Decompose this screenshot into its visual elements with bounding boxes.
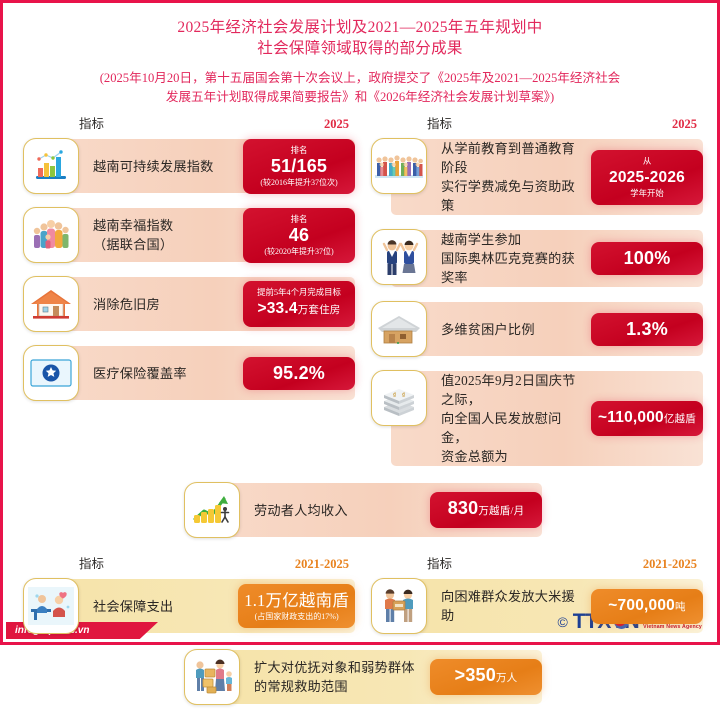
badge-unit: 万套住房 [298,305,341,316]
bar-chart-icon [23,138,79,194]
family-group-icon [23,207,79,263]
section1-right-header: 指标 2025 [365,113,703,135]
row-label-line1: 向困难群众发放大米援助 [441,587,585,625]
badge-value: 51/165 [249,156,349,177]
column-header-year: 2021-2025 [643,557,697,572]
subtitle: (2025年10月20日，第十五届国会第十次会议上，政府提交了《2025年及20… [43,69,677,107]
row-value-badge: 95.2% [243,357,355,390]
badge-value: ~110,000亿越盾 [597,407,697,430]
badge-value: 46 [249,225,349,246]
aid-family-icon [184,649,240,705]
badge-value-number: ~700,000 [608,597,675,614]
row-label-line2: 向全国人民发放慰问金， [441,409,585,447]
health-insurance-card-icon [23,345,79,401]
students-crowd-icon [371,138,427,194]
badge-value-number: >33.4 [257,300,297,317]
section1-center-row-wrap: 劳动者人均收入 830万越盾/月 [17,477,703,545]
table-row[interactable]: 多维贫困户比例 1.3% [365,298,703,360]
row-label-line2: 实行学费减免与资助政策 [441,177,585,215]
row-value-badge: ~700,000吨 [591,589,703,624]
row-value-badge: 830万越盾/月 [430,492,542,528]
poor-house-icon [371,301,427,357]
row-value-badge: ~110,000亿越盾 [591,401,703,436]
row-label-line1: 越南幸福指数 [93,216,237,235]
badge-value: 1.3% [597,319,697,340]
badge-value: 1.1万亿越南盾 [244,590,349,611]
row-label-line2: 国际奥林匹克竞赛的获奖率 [441,249,585,287]
row-label: 消除危旧房 [79,273,243,335]
row-label-line1: 从学前教育到普通教育阶段 [441,139,585,177]
badge-value: 830万越盾/月 [436,498,536,522]
infographic-frame: 2025年经济社会发展计划及2021—2025年五年规划中 社会保障领域取得的部… [0,0,720,645]
table-row[interactable]: 劳动者人均收入 830万越盾/月 [178,479,542,541]
badge-value-number: >350 [455,665,496,685]
badge-prefix: 提前5年4个月完成目标 [249,287,349,298]
badge-prefix: 排名 [249,214,349,225]
table-row[interactable]: 社会保障支出 1.1万亿越南盾 (占国家财政支出的17%) [17,575,355,637]
row-label-line1: 消除危旧房 [93,295,237,314]
badge-note: (较2016年提升37位次) [249,177,349,188]
column-header-year: 2021-2025 [295,557,349,572]
row-label-line1: 越南学生参加 [441,230,585,249]
row-label: 越南可持续发展指数 [79,135,243,197]
column-header-year: 2025 [672,117,697,132]
subtitle-line1: (2025年10月20日，第十五届国会第十次会议上，政府提交了《2025年及20… [65,69,655,88]
section2-left-header: 指标 2021-2025 [17,553,355,575]
section2-center-row-wrap: 扩大对优抚对象和弱势群体 的常规救助范围 >350万人 [17,644,703,712]
badge-unit: 万越盾/月 [478,506,524,517]
header: 2025年经济社会发展计划及2021—2025年五年规划中 社会保障领域取得的部… [3,3,717,113]
income-growth-icon [184,482,240,538]
column-header-indicator: 指标 [427,113,672,132]
table-row[interactable]: 越南幸福指数 （据联合国） 排名 46 (较2020年提升37位) [17,204,355,266]
badge-note: (占国家财政支出的17%) [244,611,349,622]
badge-value: >33.4万套住房 [249,298,349,321]
badge-value: 95.2% [249,363,349,384]
badge-value: >350万人 [436,665,536,689]
row-label: 越南幸福指数 （据联合国） [79,204,243,266]
row-label: 值2025年9月2日国庆节之际， 向全国人民发放慰问金， 资金总额为 [427,367,591,470]
row-label-line1: 劳动者人均收入 [254,501,424,520]
row-label-line1: 扩大对优抚对象和弱势群体 [254,658,424,677]
row-label-line1: 越南可持续发展指数 [93,157,237,176]
section2-right-header: 指标 2021-2025 [365,553,703,575]
row-value-badge: 排名 46 (较2020年提升37位) [243,208,355,263]
row-value-badge: 从 2025-2026 学年开始 [591,150,703,205]
badge-prefix: 排名 [249,145,349,156]
svg-text:₫: ₫ [393,393,396,399]
badge-value: 2025-2026 [597,167,697,188]
social-care-icon [23,578,79,634]
section1-left-header: 指标 2025 [17,113,355,135]
row-label: 医疗保险覆盖率 [79,342,243,404]
rice-aid-icon [371,578,427,634]
row-label-line2: （据联合国） [93,235,237,254]
house-icon [23,276,79,332]
row-value-badge: 提前5年4个月完成目标 >33.4万套住房 [243,281,355,327]
row-label: 多维贫困户比例 [427,298,591,360]
badge-value-number: 830 [448,498,479,518]
table-row[interactable]: 从学前教育到普通教育阶段 实行学费减免与资助政策 从 2025-2026 学年开… [365,135,703,219]
badge-value: 100% [597,248,697,269]
badge-unit: 吨 [675,602,686,613]
row-label: 向困难群众发放大米援助 [427,575,591,637]
row-label-line3: 资金总额为 [441,447,585,466]
row-label: 劳动者人均收入 [240,479,430,541]
badge-value-number: ~110,000 [598,409,664,426]
row-label-line1: 医疗保险覆盖率 [93,364,237,383]
badge-note: (较2020年提升37位) [249,246,349,257]
page-title-line2: 社会保障领域取得的部分成果 [43,38,677,59]
column-header-year: 2025 [324,117,349,132]
row-label-line1: 值2025年9月2日国庆节之际， [441,371,585,409]
table-row[interactable]: ₫ ₫ 值2025年9月2日国庆节之际， 向全国人民发放慰问金， 资金总额为 ~… [365,367,703,470]
row-value-badge: 1.1万亿越南盾 (占国家财政支出的17%) [238,584,355,628]
table-row[interactable]: 扩大对优抚对象和弱势群体 的常规救助范围 >350万人 [178,646,542,708]
row-label-line1: 社会保障支出 [93,597,232,616]
row-value-badge: 1.3% [591,313,703,346]
badge-unit: 万人 [496,673,517,684]
money-stack-icon: ₫ ₫ [371,370,427,426]
page-title-line1: 2025年经济社会发展计划及2021—2025年五年规划中 [43,17,677,38]
column-header-indicator: 指标 [79,553,295,572]
badge-value: ~700,000吨 [597,595,697,618]
table-row[interactable]: 医疗保险覆盖率 95.2% [17,342,355,404]
badge-prefix: 从 [597,156,697,167]
row-value-badge: 排名 51/165 (较2016年提升37位次) [243,139,355,194]
row-label: 扩大对优抚对象和弱势群体 的常规救助范围 [240,646,430,708]
section1-left-column: 指标 2025 [17,113,355,477]
svg-text:₫: ₫ [402,393,405,399]
row-value-badge: >350万人 [430,659,542,695]
logo-subtitle: Vietnam News Agency [643,624,702,630]
section-2025: 指标 2025 [3,113,717,545]
column-header-indicator: 指标 [427,553,643,572]
row-label: 越南学生参加 国际奥林匹克竞赛的获奖率 [427,226,591,291]
badge-unit: 亿越盾 [664,414,696,425]
column-header-indicator: 指标 [79,113,324,132]
row-label-line2: 的常规救助范围 [254,677,424,696]
table-row[interactable]: 消除危旧房 提前5年4个月完成目标 >33.4万套住房 [17,273,355,335]
section1-right-column: 指标 2025 [365,113,703,477]
row-label: 社会保障支出 [79,575,238,637]
subtitle-line2: 发展五年计划取得成果简要报告》和《2026年经济社会发展计划草案》) [65,88,655,107]
row-label: 从学前教育到普通教育阶段 实行学费减免与资助政策 [427,135,591,219]
two-students-icon [371,229,427,285]
row-value-badge: 100% [591,242,703,275]
table-row[interactable]: 越南学生参加 国际奥林匹克竞赛的获奖率 100% [365,226,703,291]
badge-note: 学年开始 [597,188,697,199]
section-divider-space [3,545,717,553]
table-row[interactable]: 越南可持续发展指数 排名 51/165 (较2016年提升37位次) [17,135,355,197]
row-label-line1: 多维贫困户比例 [441,320,585,339]
